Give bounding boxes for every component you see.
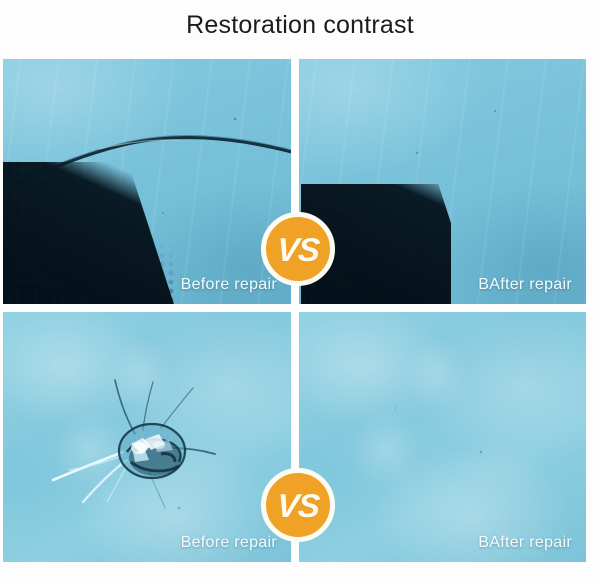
- label-before-repair-crack: Before repair: [181, 276, 277, 294]
- vs-badge-label: VS: [276, 233, 320, 266]
- comparison-grid: Before repair BAfter repair: [3, 59, 586, 562]
- grid-divider-horizontal: [3, 304, 586, 312]
- restoration-contrast-page: Restoration contrast Before repair: [0, 0, 600, 578]
- panel-before-chip[interactable]: Before repair: [3, 312, 291, 562]
- panel-after-crack[interactable]: BAfter repair: [299, 59, 586, 304]
- label-after-repair-chip: BAfter repair: [478, 534, 572, 552]
- vs-badge-bottom: VS: [261, 468, 335, 542]
- label-after-repair-crack: BAfter repair: [478, 276, 572, 294]
- vs-badge-label: VS: [276, 489, 320, 522]
- panel-after-chip[interactable]: BAfter repair: [299, 312, 586, 562]
- clean-glass-speckles-icon: [299, 312, 586, 562]
- vs-badge-top: VS: [261, 212, 335, 286]
- star-chip-damage-icon: [3, 312, 291, 562]
- page-title: Restoration contrast: [0, 9, 600, 41]
- windshield-frit-halftone: [3, 162, 177, 304]
- label-before-repair-chip: Before repair: [181, 534, 277, 552]
- panel-before-crack[interactable]: Before repair: [3, 59, 291, 304]
